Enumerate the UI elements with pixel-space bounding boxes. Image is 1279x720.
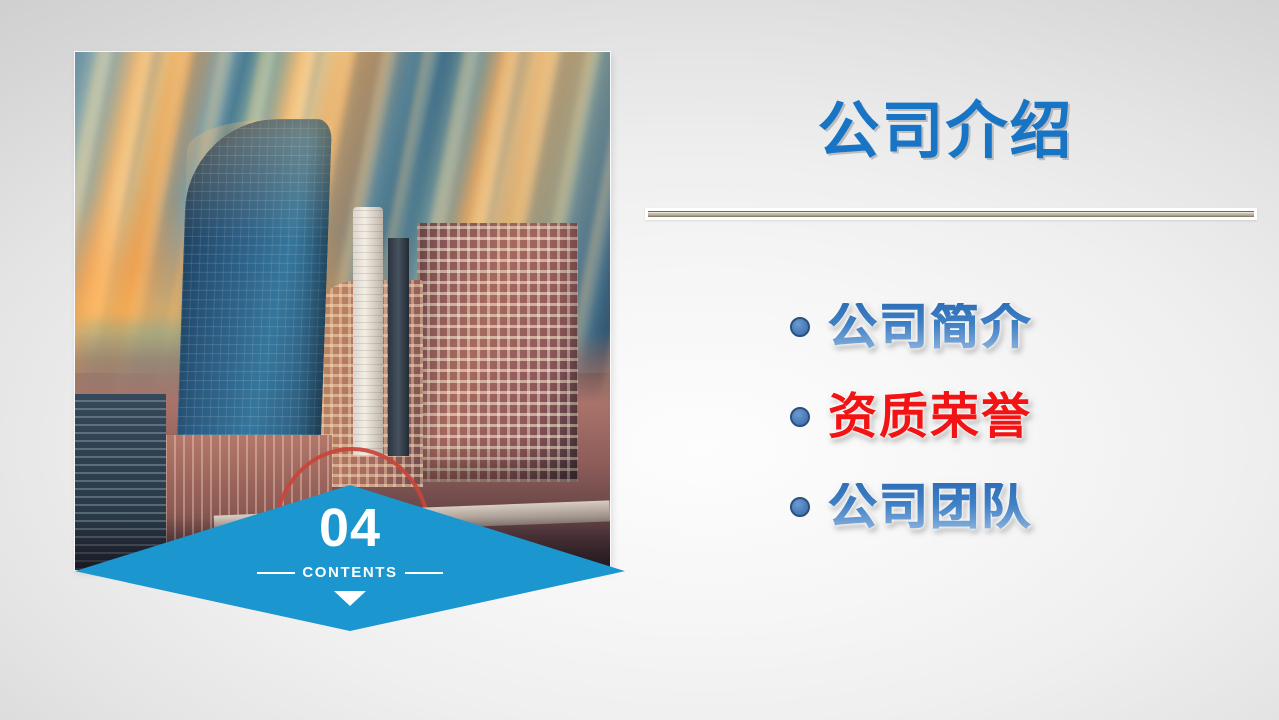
divider-bevel-bar [648, 211, 1254, 217]
bullet-dot-icon [790, 497, 810, 517]
dark-mid-tower [388, 238, 409, 456]
agenda-item-label: 公司团队 [828, 483, 1032, 532]
agenda-item-label: 资质荣誉 [828, 393, 1032, 442]
agenda-item-company-team[interactable]: 公司团队 [640, 462, 1279, 552]
cityscape-photo [75, 52, 610, 570]
bullet-dot-icon [790, 317, 810, 337]
agenda-item-company-intro[interactable]: 公司简介 [640, 282, 1279, 372]
agenda-item-qualifications-honors[interactable]: 资质荣誉 [640, 372, 1279, 462]
right-content-panel: 公司介绍 公司简介 资质荣誉 公司团队 [640, 0, 1279, 720]
contents-rule-left [257, 572, 295, 574]
title-divider [645, 208, 1257, 220]
bullet-dot-icon [790, 407, 810, 427]
grid-window-tower [417, 223, 578, 482]
photo-bottom-vignette [75, 518, 610, 570]
slide-title: 公司介绍 [640, 80, 1251, 170]
photo-canvas [75, 52, 610, 570]
curved-glass-skyscraper [176, 119, 333, 471]
agenda-item-label: 公司简介 [828, 303, 1032, 352]
agenda-list: 公司简介 资质荣誉 公司团队 [640, 282, 1279, 552]
slim-white-tower [353, 207, 382, 456]
contents-rule-right [405, 572, 443, 574]
down-caret-icon [334, 591, 366, 606]
presentation-slide: 04 CONTENTS 公司介绍 公司简介 资质荣誉 [0, 0, 1279, 720]
